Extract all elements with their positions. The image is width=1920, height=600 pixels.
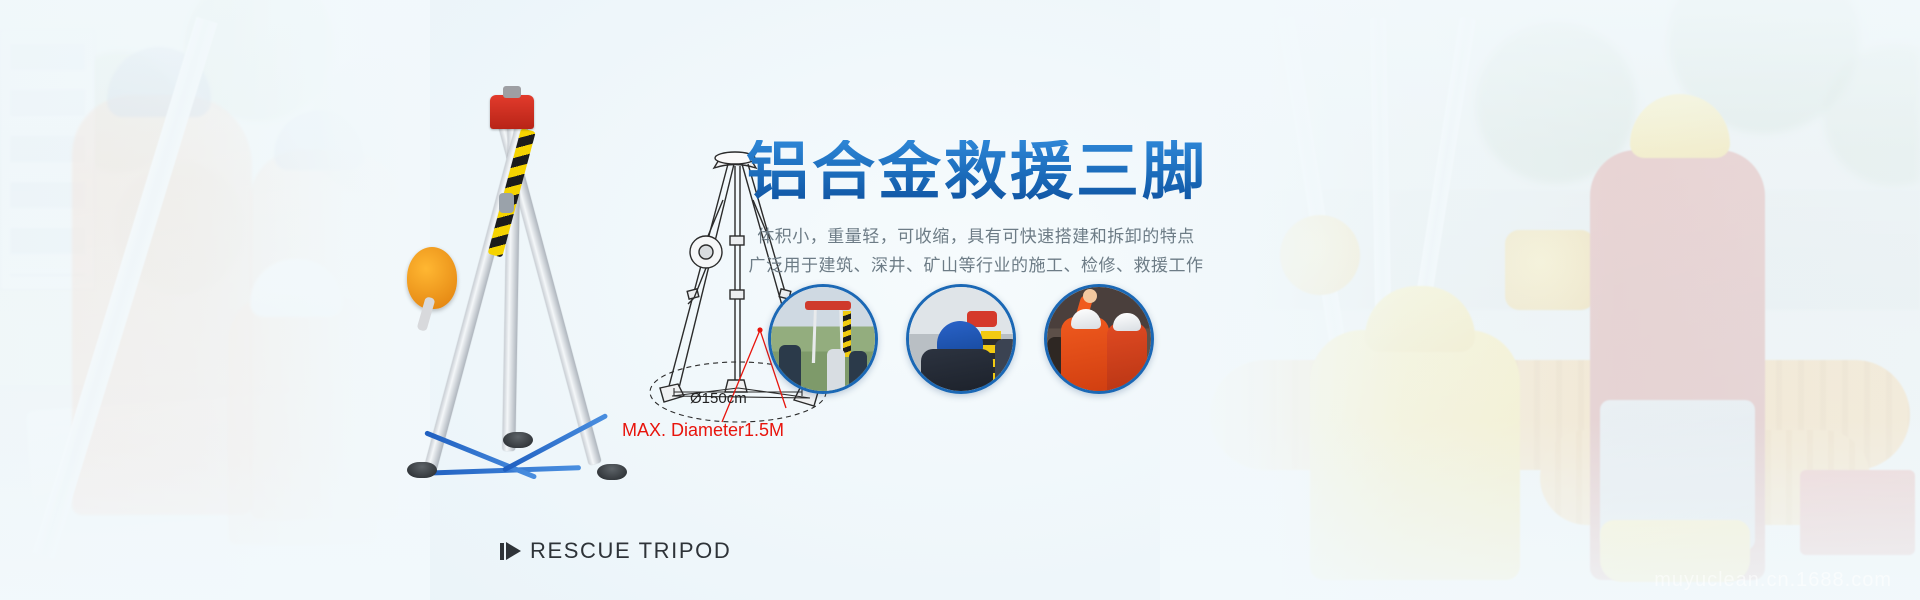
subtitle-block: 体积小，重量轻，可收缩，具有可快速搭建和拆卸的特点 广泛用于建筑、深井、矿山等行… bbox=[746, 222, 1206, 280]
base-chain bbox=[421, 465, 581, 476]
right-background-photo bbox=[1160, 0, 1920, 600]
left-background-photo bbox=[0, 0, 430, 600]
application-photo-site-inspection-workers[interactable] bbox=[906, 284, 1016, 394]
product-banner: Ø150cm MAX. Diameter1.5M RESCUE TRIPOD 铝… bbox=[0, 0, 1920, 600]
product-caption: RESCUE TRIPOD bbox=[500, 538, 731, 564]
subtitle-line-2: 广泛用于建筑、深井、矿山等行业的施工、检修、救援工作 bbox=[746, 251, 1206, 280]
application-photo-confined-space-rescue[interactable] bbox=[1044, 284, 1154, 394]
tripod-head-bracket bbox=[490, 95, 534, 129]
headline-block: 铝合金救援三脚架 体积小，重量轻，可收缩，具有可快速搭建和拆卸的特点 广泛用于建… bbox=[746, 140, 1206, 280]
page-title: 铝合金救援三脚架 bbox=[746, 140, 1206, 206]
pulley-icon bbox=[499, 193, 514, 213]
product-caption-text: RESCUE TRIPOD bbox=[530, 538, 731, 564]
play-marker-icon bbox=[500, 542, 521, 560]
watermark: muyuclean.cn.1688.com bbox=[1654, 569, 1892, 592]
product-tripod-photo bbox=[385, 85, 640, 485]
application-photo-row bbox=[768, 284, 1154, 394]
max-diameter-note: MAX. Diameter1.5M bbox=[622, 420, 784, 441]
tripod-base-assembly bbox=[385, 380, 640, 485]
winch-unit bbox=[407, 247, 457, 309]
tripod-foot bbox=[407, 462, 437, 478]
diameter-dimension-label: Ø150cm bbox=[690, 390, 747, 407]
left-photo-vertical-fade bbox=[0, 0, 430, 600]
application-photo-outdoor-rescue-drill[interactable] bbox=[768, 284, 878, 394]
subtitle-line-1: 体积小，重量轻，可收缩，具有可快速搭建和拆卸的特点 bbox=[746, 222, 1206, 251]
tripod-foot bbox=[503, 432, 533, 448]
right-photo-vertical-fade bbox=[1160, 0, 1920, 600]
